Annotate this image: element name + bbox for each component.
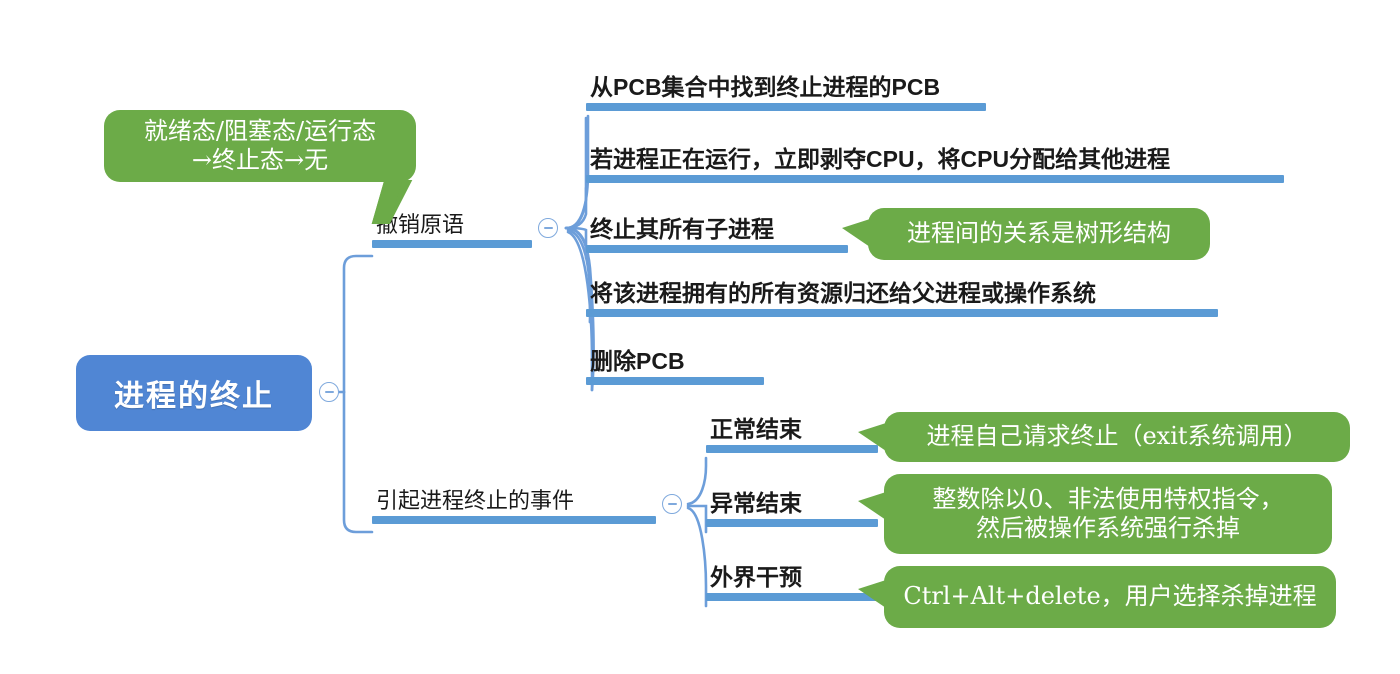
leaf-node-find-pcb[interactable]: 从PCB集合中找到终止进程的PCB [586, 74, 986, 111]
leaf-underline-bar [586, 245, 848, 253]
callout-line: →终止态→无 [192, 146, 328, 175]
leaf-underline-bar [706, 519, 878, 527]
leaf-node-delete-pcb[interactable]: 删除PCB [586, 348, 764, 385]
leaf-label: 外界干预 [706, 564, 878, 593]
root-node[interactable]: 进程的终止 [76, 355, 312, 431]
leaf-label: 将该进程拥有的所有资源归还给父进程或操作系统 [586, 280, 1218, 309]
leaf-underline-bar [586, 377, 764, 385]
leaf-label: 若进程正在运行，立即剥夺CPU，将CPU分配给其他进程 [586, 146, 1284, 175]
leaf-node-abnormal-exit[interactable]: 异常结束 [706, 490, 878, 527]
callout-state-transition-note[interactable]: 就绪态/阻塞态/运行态 →终止态→无 [104, 110, 416, 182]
branch-label: 引起进程终止的事件 [372, 488, 656, 516]
callout-process-tree-note[interactable]: 进程间的关系是树形结构 [868, 208, 1210, 260]
leaf-node-external-intervention[interactable]: 外界干预 [706, 564, 878, 601]
leaf-node-preempt-cpu[interactable]: 若进程正在运行，立即剥夺CPU，将CPU分配给其他进程 [586, 146, 1284, 183]
leaf-node-normal-exit[interactable]: 正常结束 [706, 416, 878, 453]
mindmap-canvas: 进程的终止 撤销原语 从PCB集合中找到终止进程的PCB 若进程正在运行，立即剥… [0, 0, 1400, 674]
callout-line: 整数除以0、非法使用特权指令， [932, 485, 1283, 514]
callout-line: 就绪态/阻塞态/运行态 [144, 117, 376, 146]
leaf-node-return-resources[interactable]: 将该进程拥有的所有资源归还给父进程或操作系统 [586, 280, 1218, 317]
leaf-label: 终止其所有子进程 [586, 216, 848, 245]
leaf-label: 删除PCB [586, 348, 764, 377]
leaf-underline-bar [586, 175, 1284, 183]
leaf-label: 从PCB集合中找到终止进程的PCB [586, 74, 986, 103]
callout-abnormal-exit-note[interactable]: 整数除以0、非法使用特权指令， 然后被操作系统强行杀掉 [884, 474, 1332, 554]
callout-line: Ctrl+Alt+delete，用户选择杀掉进程 [903, 582, 1316, 611]
leaf-underline-bar [706, 593, 878, 601]
branch-collapse-toggle-revoke-primitive[interactable] [538, 218, 558, 238]
callout-line: 进程自己请求终止（exit系统调用） [926, 422, 1307, 451]
minus-icon [544, 227, 553, 229]
branch-underline-bar [372, 240, 532, 248]
leaf-underline-bar [586, 309, 1218, 317]
branch-collapse-toggle-termination-events[interactable] [662, 494, 682, 514]
leaf-node-terminate-children[interactable]: 终止其所有子进程 [586, 216, 848, 253]
branch-underline-bar [372, 516, 656, 524]
branch-node-termination-events[interactable]: 引起进程终止的事件 [372, 488, 656, 524]
minus-icon [325, 391, 334, 393]
callout-line: 进程间的关系是树形结构 [907, 219, 1171, 248]
root-collapse-toggle[interactable] [319, 382, 339, 402]
callout-external-intervention-note[interactable]: Ctrl+Alt+delete，用户选择杀掉进程 [884, 566, 1336, 628]
leaf-underline-bar [706, 445, 878, 453]
leaf-label: 异常结束 [706, 490, 878, 519]
leaf-underline-bar [586, 103, 986, 111]
root-node-label: 进程的终止 [114, 371, 274, 415]
callout-normal-exit-note[interactable]: 进程自己请求终止（exit系统调用） [884, 412, 1350, 462]
minus-icon [668, 503, 677, 505]
callout-line: 然后被操作系统强行杀掉 [976, 514, 1240, 543]
leaf-label: 正常结束 [706, 416, 878, 445]
